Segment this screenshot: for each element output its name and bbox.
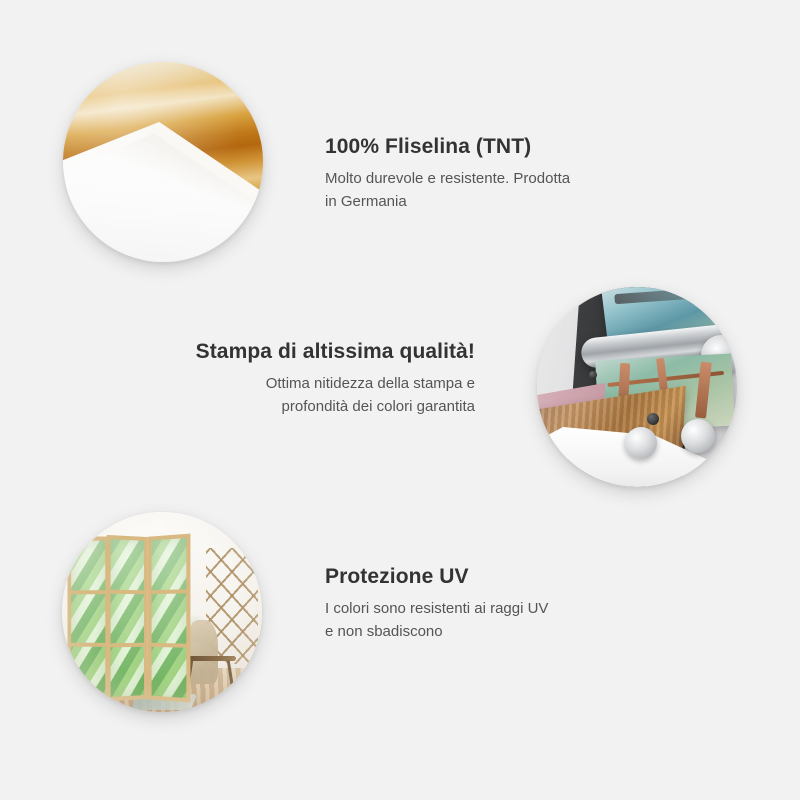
feature-text-stampa: Stampa di altissima qualità! Ottima niti… xyxy=(135,339,475,419)
feature-image-room-divider xyxy=(62,512,262,712)
feature-body-line-1: I colori sono resistenti ai raggi UV xyxy=(325,600,548,617)
printer-knob-front xyxy=(647,413,659,425)
feature-body-line-1: Ottima nitidezza della stampa e xyxy=(266,375,475,392)
printer-wheel-right xyxy=(681,419,715,453)
feature-body-line-2: profondità dei colori garantita xyxy=(282,398,475,415)
feature-body-fliselina: Molto durevole e resistente. Prodotta in… xyxy=(325,168,665,214)
feature-image-wallpaper-roll xyxy=(63,62,263,262)
room-scene xyxy=(62,512,262,712)
feature-body-line-1: Molto durevole e resistente. Prodotta xyxy=(325,170,570,187)
pier-post-right xyxy=(695,362,712,419)
printer-scene xyxy=(537,287,737,487)
wallpaper-scene xyxy=(63,62,263,262)
feature-headline-stampa: Stampa di altissima qualità! xyxy=(135,339,475,364)
feature-text-uv: Protezione UV I colori sono resistenti a… xyxy=(325,564,665,644)
printer-knob-rear xyxy=(589,371,597,379)
feature-headline-uv: Protezione UV xyxy=(325,564,665,589)
feature-stage: 100% Fliselina (TNT) Molto durevole e re… xyxy=(0,0,800,800)
feature-image-printing-machine xyxy=(537,287,737,487)
feature-text-fliselina: 100% Fliselina (TNT) Molto durevole e re… xyxy=(325,134,665,214)
room-vignette xyxy=(62,512,262,712)
feature-headline-fliselina: 100% Fliselina (TNT) xyxy=(325,134,665,159)
feature-body-line-2: in Germania xyxy=(325,193,407,210)
feature-body-line-2: e non sbadiscono xyxy=(325,623,443,640)
feature-body-stampa: Ottima nitidezza della stampa e profondi… xyxy=(135,373,475,419)
printer-wheel-left xyxy=(625,427,657,459)
wallpaper-sheen xyxy=(63,62,263,262)
feature-body-uv: I colori sono resistenti ai raggi UV e n… xyxy=(325,598,665,644)
